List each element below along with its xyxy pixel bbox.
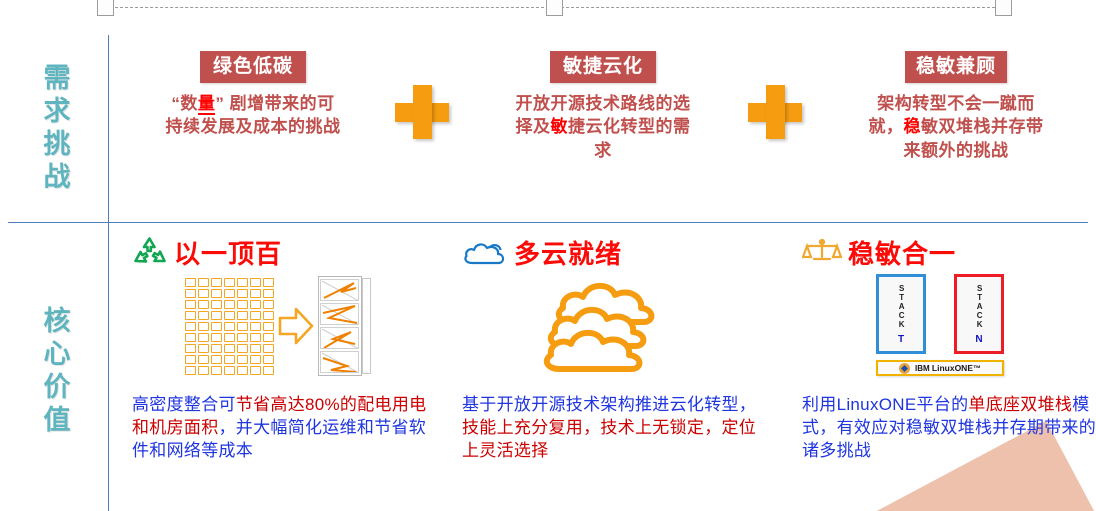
challenge-body-1-highlight: 敏 [551,117,569,136]
value-body-1-part-0: 基于开放开源技术架构推进云化转型， [462,395,756,414]
challenge-body-0: “数量” 剧增带来的可持续发展及成本的挑战 [165,92,341,139]
server-dot [250,289,261,298]
balance-scale-icon [802,235,842,269]
server-dot [224,311,235,320]
server-dot [237,333,248,342]
server-dot [211,344,222,353]
value-header-0: 以一顶百 [118,232,438,272]
challenge-card-stable-agile[interactable]: 稳敏兼顾 架构转型不会一蹴而就，稳敏双堆栈并存带来额外的挑战 [868,51,1044,162]
server-dot [211,355,222,364]
server-dot [198,344,209,353]
server-dot [224,355,235,364]
rack-unit [320,303,359,325]
challenge-title-2: 稳敏兼顾 [905,51,1007,83]
server-dot [185,300,196,309]
value-body-2-part-0: 利用LinuxONE平台的 [802,395,968,414]
guide-handle-right[interactable] [995,0,1012,16]
challenge-body-2-part-2: 敏双堆栈并存带来额外的挑战 [904,117,1044,159]
stack-box-n-word: STACK [975,284,983,329]
server-dot [237,322,248,331]
server-dot [250,300,261,309]
server-dot [198,278,209,287]
server-dot [237,311,248,320]
cloud-icon [462,237,508,267]
server-dot [237,344,248,353]
server-dot [185,278,196,287]
stack-box-t-word: STACK [897,284,905,329]
value-header-1: 多云就绪 [448,232,768,272]
dual-stack-linuxone-illustration: STACK T STACK N IBM LinuxONE™ [868,274,1028,378]
server-dot [250,278,261,287]
stack-box-t-letter: T [898,334,904,345]
guide-handle-center[interactable] [546,0,563,16]
smart-guide-bar[interactable] [97,0,1012,16]
rack-unit [320,279,359,301]
value-body-2: 利用LinuxONE平台的单底座双堆栈模式，有效应对稳敏双堆栈并存期带来的诸多挑… [788,394,1096,462]
server-dot [198,311,209,320]
server-dot [263,344,274,353]
value-title-0: 以一顶百 [174,234,282,271]
server-dot [224,333,235,342]
server-dot [185,289,196,298]
value-card-dual-stack[interactable]: 稳敏合一 STACK T STACK N IBM LinuxONE™ [788,232,1096,462]
server-dot [263,289,274,298]
server-dot [185,355,196,364]
value-body-1-part-1: 技能上充分复用，技术上无锁定，定位上灵活选择 [462,418,756,460]
server-dot [185,322,196,331]
server-dot [185,333,196,342]
server-dot [185,366,196,375]
rail-demand-challenge: 需求挑战 [0,35,108,222]
stack-box-n: STACK N [954,274,1004,354]
value-header-2: 稳敏合一 [788,232,1096,272]
server-dot [185,311,196,320]
server-dot [211,311,222,320]
challenge-title-0: 绿色低碳 [200,51,306,83]
stack-box-n-letter: N [975,334,982,345]
challenge-body-2-highlight: 稳 [904,117,922,136]
value-card-multicloud[interactable]: 多云就绪 基于开放开源技术架构推进云化转型，技能上充分复用，技术上无锁定，定位上… [448,232,768,462]
guide-handle-left[interactable] [97,0,114,16]
value-art-0 [118,272,438,380]
server-dot [250,355,261,364]
server-dot [224,366,235,375]
server-dot [250,333,261,342]
challenge-body-0-part-0: “数 [171,94,198,113]
value-card-consolidation[interactable]: 以一顶百 [118,232,438,462]
recycle-icon [132,236,168,268]
server-dot [211,333,222,342]
stacked-clouds-illustration [533,276,683,376]
server-dot [224,322,235,331]
plus-icon [748,85,802,139]
rail-label-demand-challenge: 需求挑战 [41,63,68,195]
server-dot [211,322,222,331]
challenge-body-1: 开放开源技术路线的选择及敏捷云化转型的需求 [515,92,691,162]
challenge-card-green-low-carbon[interactable]: 绿色低碳 “数量” 剧增带来的可持续发展及成本的挑战 [165,51,341,139]
plus-icon [395,85,449,139]
value-title-2: 稳敏合一 [848,234,956,271]
server-dot [263,311,274,320]
server-dot [263,278,274,287]
stack-box-t: STACK T [876,274,926,354]
rack-side-panel [362,278,371,374]
linuxone-tm: ™ [973,364,981,373]
server-dot [185,344,196,353]
server-dot [250,322,261,331]
value-body-0: 高密度整合可节省高达80%的配电用电和机房面积，并大幅简化运维和节省软件和网络等… [118,394,438,462]
server-dot [250,311,261,320]
server-dot [250,366,261,375]
arrow-right-icon [278,304,314,348]
server-dot [237,289,248,298]
server-dot [198,355,209,364]
value-art-1 [448,272,768,380]
rack-unit [320,327,359,349]
server-dot [198,366,209,375]
server-dot [224,300,235,309]
plus-icon-vertical-bar [413,85,432,139]
server-dot [211,289,222,298]
server-dot [198,300,209,309]
value-body-0-part-0: 高密度整合可 [132,395,236,414]
server-dot [237,278,248,287]
server-dot [224,289,235,298]
rack-unit [320,351,359,373]
challenges-row: 绿色低碳 “数量” 剧增带来的可持续发展及成本的挑战 敏捷云化 开放开源技术路线… [108,35,1096,222]
value-art-2: STACK T STACK N IBM LinuxONE™ [788,272,1096,380]
server-dot [263,322,274,331]
rail-core-value: 核心价值 [0,232,108,511]
server-dot [237,366,248,375]
linuxone-platform-bar: IBM LinuxONE™ [876,360,1004,376]
value-title-1: 多云就绪 [514,234,622,271]
server-rack [318,276,372,376]
server-dot [263,300,274,309]
server-dot [211,366,222,375]
server-dot [263,366,274,375]
slide-canvas: 需求挑战 核心价值 绿色低碳 “数量” 剧增带来的可持续发展及成本的挑战 敏捷云… [0,0,1096,511]
ibm-logo-icon [899,363,910,374]
server-dot [211,278,222,287]
core-values-row: 以一顶百 [108,232,1096,511]
challenge-card-agile-cloud[interactable]: 敏捷云化 开放开源技术路线的选择及敏捷云化转型的需求 [515,51,691,162]
server-dot [263,355,274,364]
linuxone-label: IBM LinuxONE™ [915,363,981,373]
challenge-body-2: 架构转型不会一蹴而就，稳敏双堆栈并存带来额外的挑战 [868,92,1044,162]
challenge-title-1: 敏捷云化 [550,51,656,83]
server-dot [263,333,274,342]
linuxone-prefix: IBM [915,364,930,373]
server-dot [211,300,222,309]
row-divider [8,222,1088,223]
server-dot [224,344,235,353]
value-body-1: 基于开放开源技术架构推进云化转型，技能上充分复用，技术上无锁定，定位上灵活选择 [448,394,768,462]
server-dot [198,289,209,298]
server-dot [198,322,209,331]
server-dot [250,344,261,353]
server-dot [237,355,248,364]
challenge-body-1-part-2: 捷云化转型的需求 [568,117,691,159]
rail-label-core-value: 核心价值 [41,306,68,438]
plus-icon-vertical-bar [766,85,785,139]
linuxone-brand: LinuxONE [932,363,973,373]
challenge-body-0-highlight: 量 [198,94,216,115]
server-dot [198,333,209,342]
value-body-2-part-1: 单底座双堆栈 [968,395,1072,414]
server-consolidation-illustration [185,276,372,376]
server-dot-grid [185,278,274,375]
server-dot [237,300,248,309]
server-dot [224,278,235,287]
